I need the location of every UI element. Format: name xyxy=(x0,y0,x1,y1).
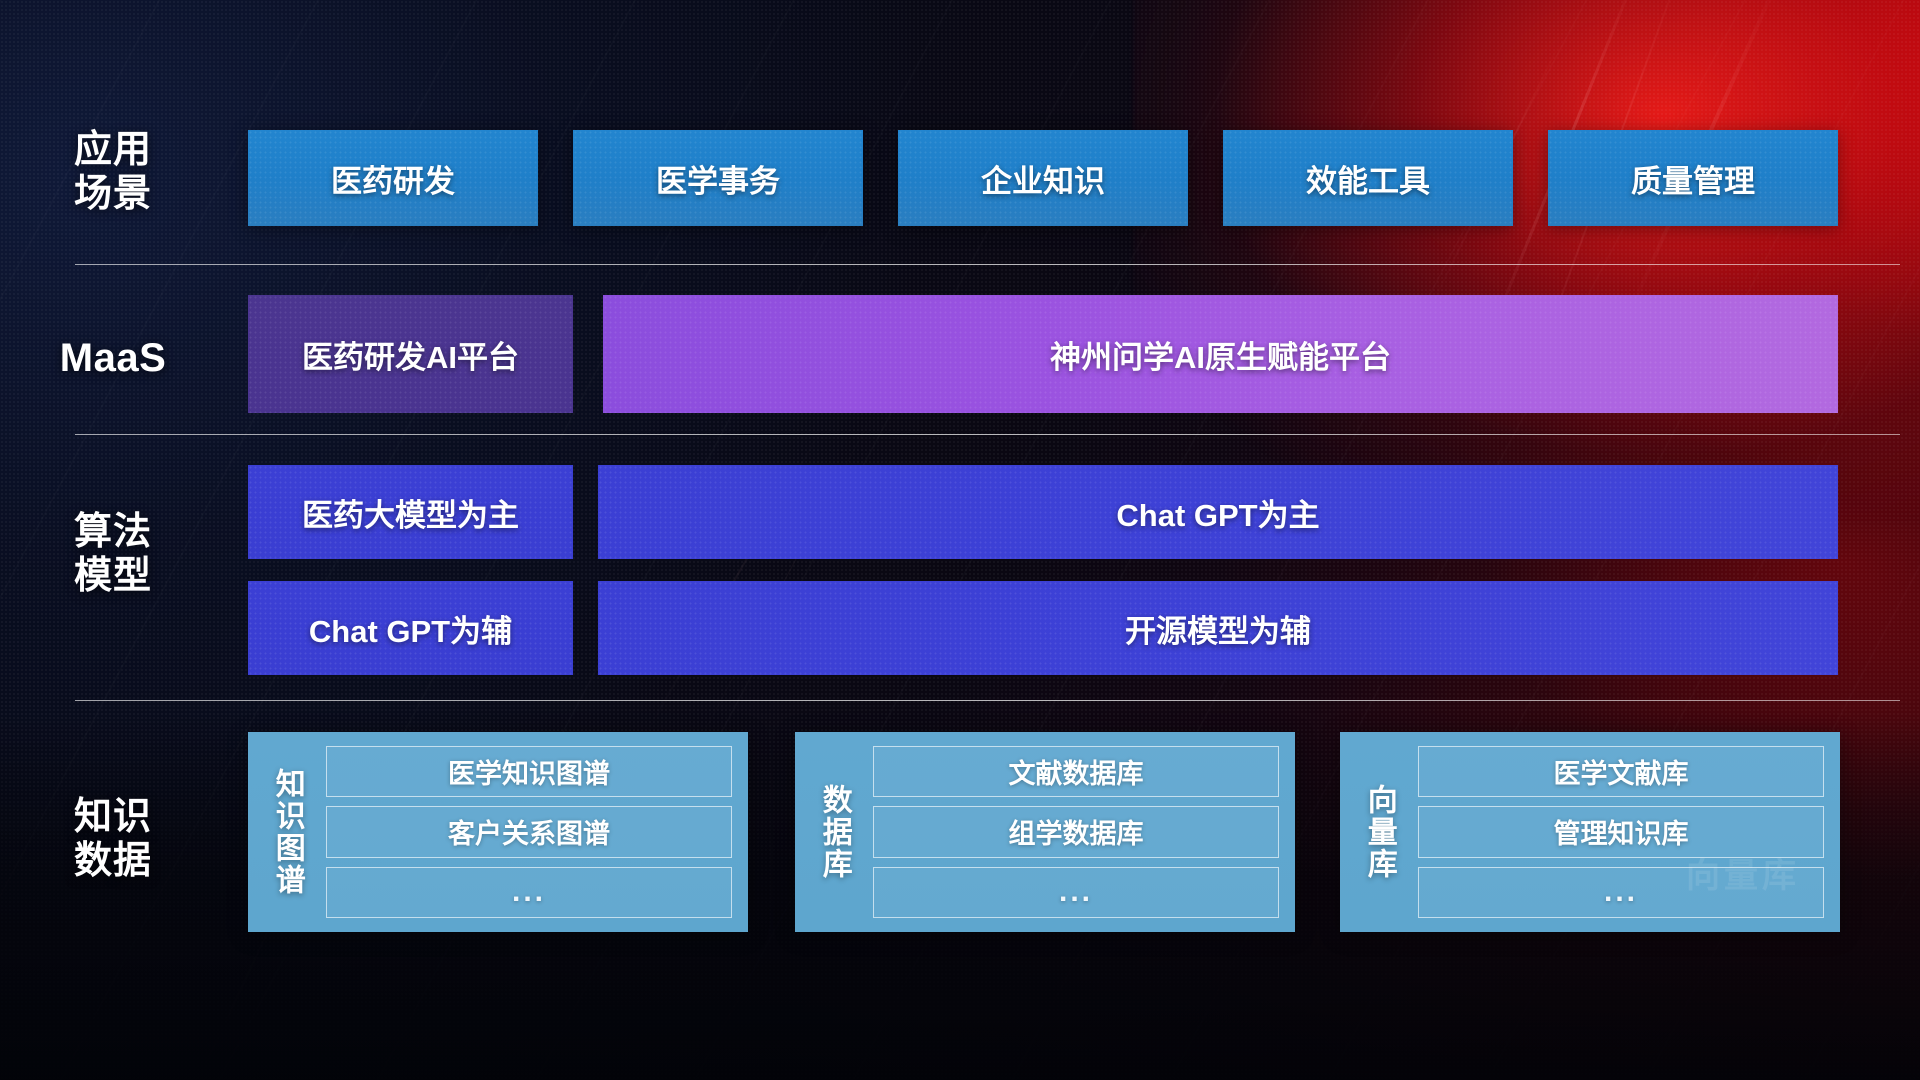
knowledge-group-graph[interactable]: 知识图谱 医学知识图谱 客户关系图谱 ... xyxy=(248,732,748,932)
knowledge-item-management-knowledge[interactable]: 管理知识库 xyxy=(1418,806,1824,857)
alg-box-label: Chat GPT为主 xyxy=(1116,490,1319,535)
knowledge-item-medical-graph[interactable]: 医学知识图谱 xyxy=(326,746,732,797)
knowledge-item-more[interactable]: ... xyxy=(326,867,732,918)
row-label-knowledge: 知识 数据 xyxy=(38,795,188,883)
row-label-algorithm: 算法 模型 xyxy=(38,510,188,598)
app-box-label: 效能工具 xyxy=(1306,156,1430,201)
knowledge-group-vector-items: 医学文献库 管理知识库 ... xyxy=(1418,746,1824,918)
maas-box-label: 神州问学AI原生赋能平台 xyxy=(1050,332,1391,377)
knowledge-group-graph-label: 知识图谱 xyxy=(248,746,326,918)
maas-box-label: 医药研发AI平台 xyxy=(302,332,519,377)
alg-box-label: Chat GPT为辅 xyxy=(309,606,512,651)
app-box-label: 医药研发 xyxy=(331,156,455,201)
divider-algorithm-knowledge xyxy=(75,700,1900,701)
alg-box-label: 开源模型为辅 xyxy=(1125,606,1311,651)
row-label-knowledge-line2: 数据 xyxy=(38,839,188,883)
knowledge-item-literature-db[interactable]: 文献数据库 xyxy=(873,746,1279,797)
knowledge-group-vector[interactable]: 向量库 向量库 医学文献库 管理知识库 ... xyxy=(1340,732,1840,932)
knowledge-group-graph-items: 医学知识图谱 客户关系图谱 ... xyxy=(326,746,732,918)
knowledge-item-omics-db[interactable]: 组学数据库 xyxy=(873,806,1279,857)
knowledge-item-medical-literature[interactable]: 医学文献库 xyxy=(1418,746,1824,797)
alg-box-label: 医药大模型为主 xyxy=(302,490,519,535)
app-box-label: 质量管理 xyxy=(1631,156,1755,201)
app-box-medicine-rd[interactable]: 医药研发 xyxy=(248,130,538,226)
knowledge-item-more[interactable]: ... xyxy=(1418,867,1824,918)
row-label-application-line2: 场景 xyxy=(38,172,188,216)
app-box-medical-affairs[interactable]: 医学事务 xyxy=(573,130,863,226)
knowledge-group-vector-label: 向量库 xyxy=(1340,746,1418,918)
app-box-label: 医学事务 xyxy=(656,156,780,201)
maas-box-shenzhou-wenxue-platform[interactable]: 神州问学AI原生赋能平台 xyxy=(603,295,1838,413)
app-box-enterprise-knowledge[interactable]: 企业知识 xyxy=(898,130,1188,226)
alg-box-medicine-model-primary[interactable]: 医药大模型为主 xyxy=(248,465,573,559)
alg-box-chatgpt-secondary[interactable]: Chat GPT为辅 xyxy=(248,581,573,675)
app-box-quality-management[interactable]: 质量管理 xyxy=(1548,130,1838,226)
row-label-maas-text: MaaS xyxy=(38,335,188,381)
row-label-application: 应用 场景 xyxy=(38,128,188,216)
row-label-knowledge-line1: 知识 xyxy=(38,795,188,839)
row-label-algorithm-line1: 算法 xyxy=(38,510,188,554)
row-label-maas: MaaS xyxy=(38,335,188,381)
knowledge-item-customer-graph[interactable]: 客户关系图谱 xyxy=(326,806,732,857)
app-box-efficiency-tools[interactable]: 效能工具 xyxy=(1223,130,1513,226)
knowledge-group-database-label: 数据库 xyxy=(795,746,873,918)
alg-box-opensource-secondary[interactable]: 开源模型为辅 xyxy=(598,581,1838,675)
alg-box-chatgpt-primary[interactable]: Chat GPT为主 xyxy=(598,465,1838,559)
row-label-algorithm-line2: 模型 xyxy=(38,554,188,598)
knowledge-group-database-items: 文献数据库 组学数据库 ... xyxy=(873,746,1279,918)
architecture-diagram: 应用 场景 医药研发 医学事务 企业知识 效能工具 质量管理 MaaS 医药研发… xyxy=(0,0,1920,1080)
divider-maas-algorithm xyxy=(75,434,1900,435)
knowledge-group-database[interactable]: 数据库 文献数据库 组学数据库 ... xyxy=(795,732,1295,932)
maas-box-medicine-ai-platform[interactable]: 医药研发AI平台 xyxy=(248,295,573,413)
row-label-application-line1: 应用 xyxy=(38,128,188,172)
app-box-label: 企业知识 xyxy=(981,156,1105,201)
divider-application-maas xyxy=(75,264,1900,265)
knowledge-item-more[interactable]: ... xyxy=(873,867,1279,918)
